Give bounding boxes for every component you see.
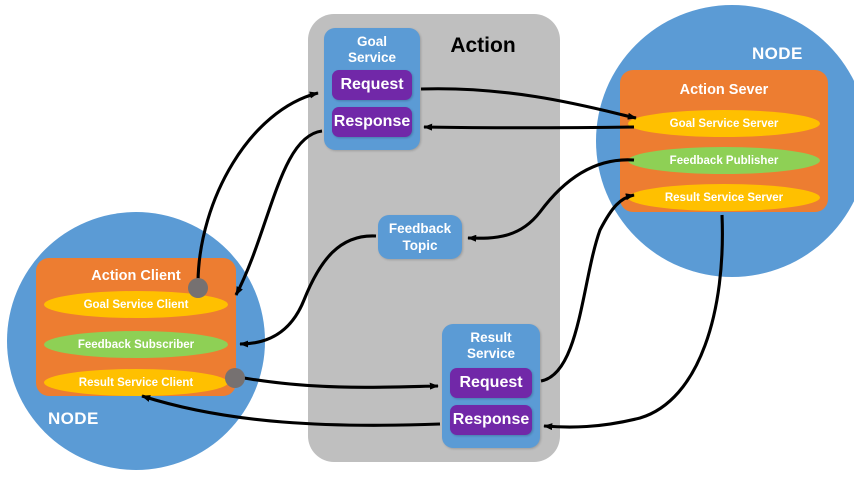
result-service-response-pill[interactable]: Response [450, 405, 532, 435]
node-label-server: NODE [752, 44, 803, 64]
result-service-title-line1: Result [470, 330, 511, 345]
goal-service-title-line2: Service [348, 50, 396, 65]
feedback-subscriber-interface[interactable]: Feedback Subscriber [44, 331, 228, 358]
goal-service-card: Goal Service Request Response [324, 28, 420, 150]
action-server-box: Action Sever Goal Service Server Feedbac… [620, 70, 828, 212]
goal-service-title-line1: Goal [357, 34, 387, 49]
result-service-title: Result Service [442, 330, 540, 362]
goal-service-server-interface[interactable]: Goal Service Server [628, 110, 820, 137]
action-group-label: Action [418, 34, 548, 58]
feedback-topic-line1: Feedback [389, 221, 451, 236]
action-server-title: Action Sever [620, 82, 828, 98]
result-service-server-interface[interactable]: Result Service Server [628, 184, 820, 211]
feedback-topic-line2: Topic [403, 238, 438, 253]
goal-service-response-pill[interactable]: Response [332, 107, 412, 137]
result-service-card: Result Service Request Response [442, 324, 540, 448]
result-connector-dot [225, 368, 245, 388]
feedback-publisher-interface[interactable]: Feedback Publisher [628, 147, 820, 174]
goal-service-title: Goal Service [324, 34, 420, 66]
feedback-topic-card[interactable]: Feedback Topic [378, 215, 462, 259]
result-service-title-line2: Service [467, 346, 515, 361]
result-service-client-interface[interactable]: Result Service Client [44, 369, 228, 396]
goal-service-request-pill[interactable]: Request [332, 70, 412, 100]
feedback-topic-label: Feedback Topic [378, 220, 462, 254]
result-service-request-pill[interactable]: Request [450, 368, 532, 398]
node-label-client: NODE [48, 409, 99, 429]
action-client-box: Action Client Goal Service Client Feedba… [36, 258, 236, 396]
goal-connector-dot [188, 278, 208, 298]
diagram-canvas: Action NODE Action Client Goal Service C… [0, 0, 854, 480]
